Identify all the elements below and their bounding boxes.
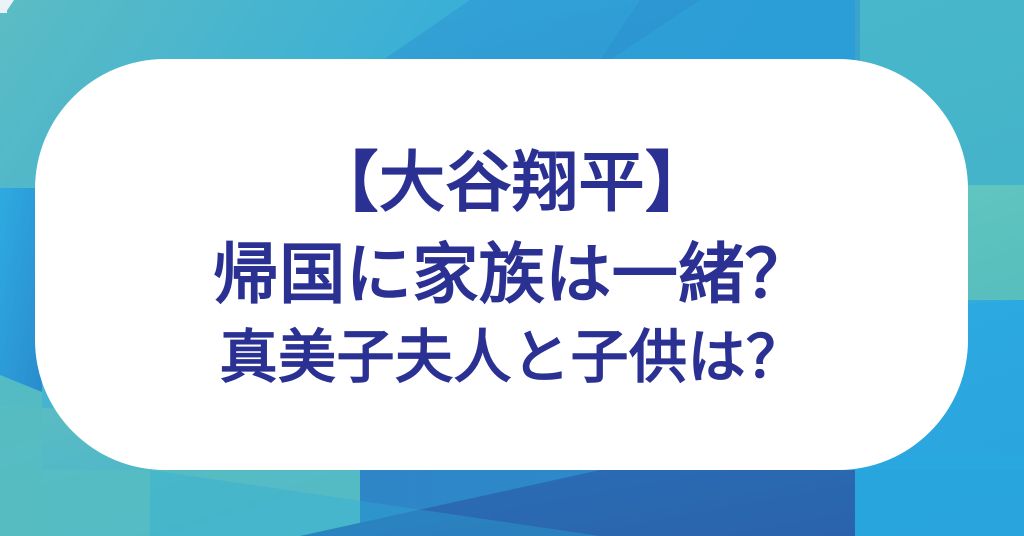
white-rounded-card [35,59,968,470]
bg-bottom-right-cyan-panel-2 [855,455,1024,536]
thumbnail-canvas: 【大谷翔平】 帰国に家族は一緒？ 真美子夫人と子供は？ [0,0,1024,536]
bg-top-left-edge-strip [0,0,7,13]
bg-left-bottom-teal-overlay [0,375,42,536]
